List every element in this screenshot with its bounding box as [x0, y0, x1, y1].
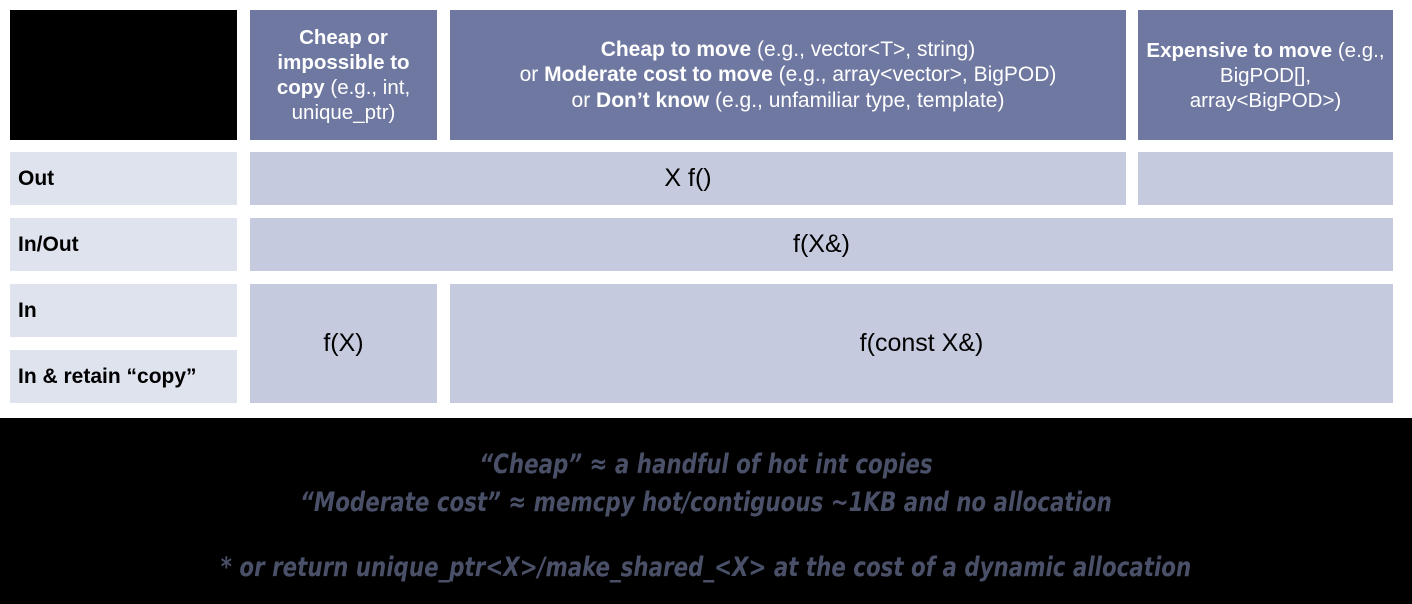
- column-header-line-2: or Moderate cost to move (e.g., array<ve…: [520, 62, 1057, 88]
- row-label-in-retain-copy: In & retain “copy”: [10, 350, 237, 403]
- column-header-line-3-strong: Don’t know: [596, 89, 709, 112]
- cell-text: f(X&): [793, 229, 850, 260]
- parameter-passing-table: Cheap or impossible to copy (e.g., int, …: [0, 0, 1412, 418]
- row-label-in: In: [10, 284, 237, 337]
- column-header-expensive-to-move: Expensive to move (e.g., BigPOD[], array…: [1138, 10, 1393, 140]
- cell-in-by-value: f(X): [250, 284, 437, 403]
- row-label-text: In & retain “copy”: [18, 364, 197, 390]
- row-label-in-out: In/Out: [10, 218, 237, 271]
- column-header-line-3-example: (e.g., unfamiliar type, template): [709, 89, 1004, 112]
- cell-in-const-ref: f(const X&): [450, 284, 1393, 403]
- column-header-line-2-strong: Moderate cost to move: [544, 63, 773, 86]
- cell-out-return-by-value: X f(): [250, 152, 1126, 205]
- column-header-line-1-strong: Cheap to move: [601, 38, 752, 61]
- row-label-text: In/Out: [18, 232, 79, 258]
- row-label-text: Out: [18, 166, 54, 192]
- cell-text: f(const X&): [860, 328, 984, 359]
- cell-text: X f(): [664, 163, 711, 194]
- column-header-line-1-example: (e.g., vector<T>, string): [751, 38, 975, 61]
- row-label-out: Out: [10, 152, 237, 205]
- cell-out-expensive-to-move: [1138, 152, 1393, 205]
- footnotes-panel: “Cheap” ≈ a handful of hot int copies “M…: [0, 418, 1412, 604]
- footnote-text: * or return unique_ptr<X>/make_shared_<X…: [85, 552, 1328, 583]
- definition-moderate-cost: “Moderate cost” ≈ memcpy hot/contiguous …: [85, 484, 1328, 522]
- footnote-asterisk: * or return unique_ptr<X>/make_shared_<X…: [85, 552, 1328, 583]
- column-header-strong: Expensive to move: [1146, 39, 1332, 62]
- column-header-cheap-or-impossible-to-copy: Cheap or impossible to copy (e.g., int, …: [250, 10, 437, 140]
- row-label-text: In: [18, 298, 37, 324]
- cell-text: f(X): [323, 328, 363, 359]
- column-header-line-2-prefix: or: [520, 63, 545, 86]
- column-header-line-3: or Don’t know (e.g., unfamiliar type, te…: [520, 88, 1057, 114]
- cell-in-out-nonconst-ref: f(X&): [250, 218, 1393, 271]
- column-header-line-3-prefix: or: [572, 89, 597, 112]
- column-header-line-2-example: (e.g., array<vector>, BigPOD): [773, 63, 1057, 86]
- column-header-line-1: Cheap to move (e.g., vector<T>, string): [520, 37, 1057, 63]
- definition-cheap: “Cheap” ≈ a handful of hot int copies: [85, 446, 1328, 484]
- column-header-cheap-or-moderate-to-move: Cheap to move (e.g., vector<T>, string) …: [450, 10, 1126, 140]
- definitions-group: “Cheap” ≈ a handful of hot int copies “M…: [85, 446, 1328, 523]
- table-corner-block: [10, 10, 237, 140]
